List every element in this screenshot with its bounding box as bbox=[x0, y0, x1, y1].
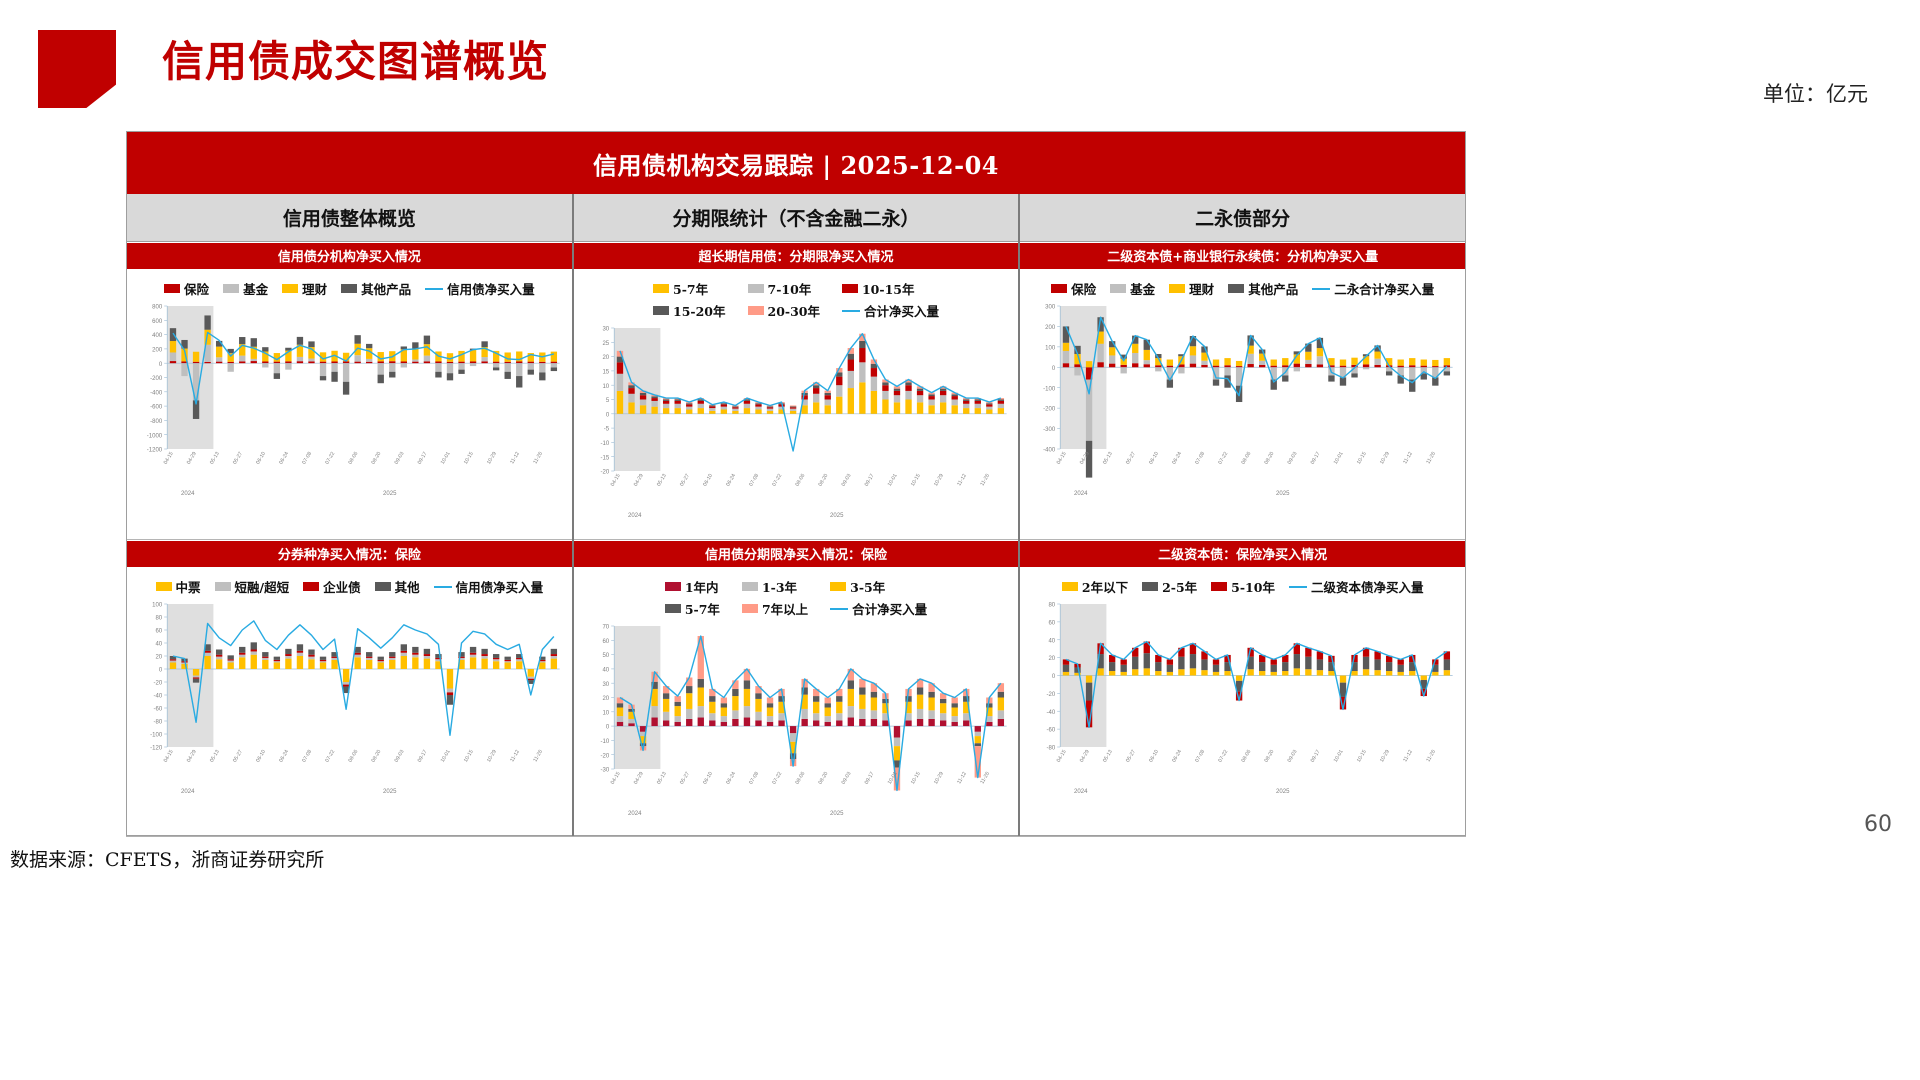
bar-segment bbox=[1213, 659, 1219, 664]
x-tick-label: 08-20 bbox=[371, 451, 383, 466]
year-label: 2024 bbox=[1074, 491, 1088, 497]
bar-segment bbox=[389, 657, 395, 658]
bar-segment bbox=[1375, 670, 1381, 675]
chart-area-2[interactable]: 保险基金理财其他产品二永合计净买入量 3002001000-100-200-30… bbox=[1020, 269, 1465, 539]
bar-segment bbox=[986, 407, 992, 410]
bar-segment bbox=[389, 361, 395, 363]
chart-svg: 806040200-20-40-60-8004-1504-2905-1305-2… bbox=[1026, 598, 1459, 803]
bar-segment bbox=[493, 363, 499, 367]
chart-plot-3[interactable]: 100806040200-20-40-60-80-100-12004-1504-… bbox=[133, 598, 566, 803]
bar-segment bbox=[893, 726, 899, 737]
column-header-1: 分期限统计（不含金融二永） bbox=[574, 194, 1019, 242]
bar-segment bbox=[997, 408, 1003, 414]
y-tick-label: -40 bbox=[153, 694, 162, 700]
bar-segment bbox=[1132, 344, 1138, 353]
x-tick-label: 06-10 bbox=[255, 749, 267, 764]
bar-segment bbox=[401, 644, 407, 651]
x-tick-label: 05-27 bbox=[1125, 451, 1137, 466]
bar-segment bbox=[1213, 380, 1219, 386]
chart-legend-1: 5-7年7-10年10-15年15-20年20-30年合计净买入量 bbox=[580, 273, 1013, 322]
chart-area-5[interactable]: 2年以下2-5年5-10年二级资本债净买入量 806040200-20-40-6… bbox=[1020, 567, 1465, 837]
chart-svg: 3002001000-100-200-300-40004-1504-2905-1… bbox=[1026, 300, 1459, 505]
bar-segment bbox=[732, 719, 738, 726]
x-tick-label: 07-08 bbox=[748, 473, 760, 488]
bar-segment bbox=[193, 669, 199, 676]
bar-segment bbox=[755, 410, 761, 414]
y-tick-label: 200 bbox=[152, 348, 163, 354]
bar-segment bbox=[1271, 665, 1277, 672]
x-tick-label: 07-22 bbox=[324, 749, 336, 764]
bar-segment bbox=[720, 404, 726, 406]
bar-segment bbox=[767, 698, 773, 704]
bar-segment bbox=[320, 657, 326, 660]
chart-cell-4[interactable]: 信用债分期限净买入情况：保险 1年内1-3年3-5年5-7年7年以上合计净买入量… bbox=[574, 540, 1019, 837]
bar-segment bbox=[859, 687, 865, 694]
bar-segment bbox=[997, 719, 1003, 726]
legend-item: 其他 bbox=[375, 577, 420, 596]
legend-line-swatch bbox=[1289, 586, 1307, 588]
bar-segment bbox=[412, 359, 418, 361]
bar-segment bbox=[720, 703, 726, 707]
bar-segment bbox=[674, 706, 680, 716]
bar-segment bbox=[320, 660, 326, 661]
bar-segment bbox=[262, 657, 268, 658]
x-tick-label: 04-29 bbox=[633, 473, 645, 488]
x-tick-label: 07-08 bbox=[1195, 749, 1207, 764]
bar-segment bbox=[378, 375, 384, 384]
y-tick-label: 80 bbox=[155, 616, 162, 622]
y-tick-label: 0 bbox=[605, 725, 609, 731]
bar-segment bbox=[1144, 668, 1150, 675]
year-label: 2025 bbox=[1276, 789, 1290, 795]
bar-segment bbox=[228, 659, 234, 660]
x-tick-label: 07-08 bbox=[748, 771, 760, 786]
legend-label: 3-5年 bbox=[850, 577, 885, 596]
x-tick-label: 10-29 bbox=[933, 771, 945, 786]
bar-segment bbox=[859, 719, 865, 726]
x-tick-label: 11-12 bbox=[956, 473, 968, 487]
bar-segment bbox=[709, 411, 715, 414]
bar-segment bbox=[882, 699, 888, 703]
legend-color-swatch bbox=[375, 582, 391, 591]
y-tick-label: 80 bbox=[1049, 603, 1056, 609]
legend-item: 短融/超短 bbox=[215, 577, 290, 596]
bar-segment bbox=[674, 696, 680, 702]
chart-svg: 100806040200-20-40-60-80-100-12004-1504-… bbox=[133, 598, 566, 803]
bar-segment bbox=[859, 341, 865, 348]
bar-segment bbox=[870, 391, 876, 414]
chart-cell-0[interactable]: 信用债分机构净买入情况 保险基金理财其他产品信用债净买入量 8006004002… bbox=[127, 242, 572, 540]
legend-item: 企业债 bbox=[303, 577, 361, 596]
bar-segment bbox=[239, 647, 245, 653]
bar-segment bbox=[539, 363, 545, 372]
x-tick-label: 09-03 bbox=[1287, 451, 1299, 466]
bar-segment bbox=[1202, 365, 1208, 367]
bar-segment bbox=[505, 657, 511, 660]
chart-area-3[interactable]: 中票短融/超短企业债其他信用债净买入量 100806040200-20-40-6… bbox=[127, 567, 572, 837]
x-tick-label: 07-22 bbox=[1218, 749, 1230, 764]
bar-segment bbox=[720, 708, 726, 717]
bar-segment bbox=[628, 385, 634, 388]
x-tick-label: 07-22 bbox=[1218, 451, 1230, 466]
bar-segment bbox=[1386, 371, 1392, 375]
x-tick-label: 04-29 bbox=[186, 451, 198, 466]
bar-segment bbox=[940, 713, 946, 720]
legend-line-swatch bbox=[830, 608, 848, 610]
bar-segment bbox=[1409, 365, 1415, 367]
x-tick-label: 08-20 bbox=[1264, 749, 1276, 764]
bar-segment bbox=[963, 720, 969, 726]
x-tick-label: 04-29 bbox=[1079, 749, 1091, 764]
bar-segment bbox=[709, 408, 715, 411]
y-tick-label: 200 bbox=[1045, 325, 1056, 331]
bar-segment bbox=[1063, 672, 1069, 676]
x-tick-label: 09-17 bbox=[863, 473, 875, 488]
panel-banner-text: 信用债机构交易跟踪 | 2025-12-04 bbox=[593, 146, 999, 181]
bar-segment bbox=[870, 710, 876, 719]
bar-segment bbox=[917, 695, 923, 709]
bar-segment bbox=[204, 315, 210, 329]
bar-segment bbox=[1386, 662, 1392, 671]
legend-label: 7-10年 bbox=[768, 279, 812, 298]
bar-segment bbox=[331, 658, 337, 660]
bar-segment bbox=[1236, 361, 1242, 366]
legend-item: 15-20年 bbox=[653, 301, 725, 320]
bar-segment bbox=[824, 698, 830, 704]
legend-line-swatch bbox=[425, 288, 443, 290]
legend-label: 其他 bbox=[395, 577, 420, 596]
y-tick-label: -80 bbox=[153, 720, 162, 726]
bar-segment bbox=[686, 410, 692, 414]
y-tick-label: -1200 bbox=[147, 448, 163, 454]
bar-segment bbox=[1109, 364, 1115, 368]
bar-segment bbox=[366, 660, 372, 669]
x-tick-label: 11-26 bbox=[979, 473, 991, 487]
x-tick-label: 11-12 bbox=[1403, 749, 1415, 763]
bar-segment bbox=[320, 661, 326, 662]
bar-segment bbox=[470, 647, 476, 653]
chart-cell-1[interactable]: 超长期信用债：分期限净买入情况 5-7年7-10年10-15年15-20年20-… bbox=[574, 242, 1019, 540]
bar-segment bbox=[170, 352, 176, 361]
highlight-band bbox=[167, 604, 213, 747]
bar-segment bbox=[917, 719, 923, 726]
y-tick-label: 40 bbox=[602, 668, 609, 674]
bar-segment bbox=[251, 359, 257, 361]
bar-segment bbox=[663, 699, 669, 712]
bar-segment bbox=[1144, 350, 1150, 360]
bar-segment bbox=[170, 663, 176, 670]
bar-segment bbox=[354, 657, 360, 669]
bar-segment bbox=[813, 394, 819, 403]
bar-segment bbox=[1155, 367, 1161, 371]
x-tick-label: 07-08 bbox=[1195, 451, 1207, 466]
bar-segment bbox=[1340, 378, 1346, 386]
bar-segment bbox=[893, 738, 899, 747]
bar-segment bbox=[528, 363, 534, 369]
bar-segment bbox=[616, 374, 622, 391]
x-tick-label: 09-17 bbox=[863, 771, 875, 786]
bar-segment bbox=[732, 710, 738, 719]
y-tick-label: -80 bbox=[1047, 746, 1056, 752]
bar-segment bbox=[1340, 366, 1346, 368]
legend-item: 合计净买入量 bbox=[842, 301, 939, 320]
legend-label: 二级资本债净买入量 bbox=[1311, 577, 1424, 596]
bar-segment bbox=[1109, 671, 1115, 675]
bar-segment bbox=[1259, 361, 1265, 365]
bar-segment bbox=[663, 720, 669, 726]
bar-segment bbox=[813, 720, 819, 726]
bar-segment bbox=[505, 663, 511, 670]
bar-segment bbox=[917, 687, 923, 694]
chart-cell-3[interactable]: 分券种净买入情况：保险 中票短融/超短企业债其他信用债净买入量 10080604… bbox=[127, 540, 572, 837]
x-tick-label: 05-13 bbox=[209, 749, 221, 764]
bar-segment bbox=[239, 337, 245, 344]
bar-segment bbox=[974, 400, 980, 401]
bar-segment bbox=[951, 396, 957, 399]
bar-segment bbox=[1363, 367, 1369, 369]
bar-segment bbox=[767, 708, 773, 717]
bar-segment bbox=[516, 661, 522, 669]
bar-segment bbox=[516, 361, 522, 363]
bar-segment bbox=[1063, 363, 1069, 367]
y-tick-label: -200 bbox=[1043, 407, 1056, 413]
bar-segment bbox=[1432, 360, 1438, 366]
bar-segment bbox=[193, 677, 199, 678]
chart-plot-5[interactable]: 806040200-20-40-60-8004-1504-2905-1305-2… bbox=[1026, 598, 1459, 803]
bar-segment bbox=[181, 363, 187, 376]
bar-segment bbox=[389, 372, 395, 378]
bar-segment bbox=[320, 376, 326, 380]
bar-segment bbox=[458, 351, 464, 362]
chart-plot-0[interactable]: 8006004002000-200-400-600-800-1000-12000… bbox=[133, 300, 566, 505]
year-label: 2024 bbox=[181, 491, 195, 497]
bar-segment bbox=[686, 407, 692, 410]
x-tick-label: 04-15 bbox=[1056, 451, 1068, 466]
x-tick-label: 09-17 bbox=[1310, 749, 1322, 764]
bar-segment bbox=[239, 653, 245, 655]
bar-segment bbox=[424, 344, 430, 355]
legend-label: 5-7年 bbox=[673, 279, 708, 298]
bar-segment bbox=[539, 663, 545, 670]
x-tick-label: 08-06 bbox=[348, 749, 360, 764]
bar-segment bbox=[239, 657, 245, 669]
legend-color-swatch bbox=[1110, 284, 1126, 293]
bar-segment bbox=[1317, 348, 1323, 356]
bar-segment bbox=[481, 361, 487, 363]
chart-area-1[interactable]: 5-7年7-10年10-15年15-20年20-30年合计净买入量 302520… bbox=[574, 269, 1019, 539]
y-tick-label: 15 bbox=[602, 370, 609, 376]
x-tick-label: 08-20 bbox=[371, 749, 383, 764]
legend-item: 保险 bbox=[164, 279, 209, 298]
chart-plot-4[interactable]: 706050403020100-10-20-3004-1504-2905-130… bbox=[580, 620, 1013, 825]
bar-segment bbox=[551, 659, 557, 669]
bar-segment bbox=[824, 708, 830, 717]
y-tick-label: 30 bbox=[602, 327, 609, 333]
chart-area-0[interactable]: 保险基金理财其他产品信用债净买入量 8006004002000-200-400-… bbox=[127, 269, 572, 539]
legend-color-swatch bbox=[1169, 284, 1185, 293]
legend-item: 7年以上 bbox=[742, 599, 808, 618]
bar-segment bbox=[551, 649, 557, 654]
bar-segment bbox=[847, 689, 853, 706]
bar-segment bbox=[447, 692, 453, 695]
source-note: 数据来源：CFETS，浙商证券研究所 bbox=[10, 845, 324, 872]
bar-segment bbox=[274, 660, 280, 661]
x-tick-label: 08-20 bbox=[817, 771, 829, 786]
bar-segment bbox=[893, 746, 899, 760]
bar-segment bbox=[1225, 671, 1231, 675]
x-tick-label: 10-01 bbox=[887, 473, 899, 488]
legend-item: 理财 bbox=[282, 279, 327, 298]
bar-segment bbox=[928, 394, 934, 396]
bar-segment bbox=[847, 388, 853, 414]
x-tick-label: 08-06 bbox=[794, 473, 806, 488]
bar-segment bbox=[651, 407, 657, 414]
bar-segment bbox=[905, 382, 911, 385]
bar-segment bbox=[836, 713, 842, 720]
bar-segment bbox=[412, 647, 418, 653]
bar-segment bbox=[1225, 367, 1231, 375]
x-tick-label: 08-20 bbox=[817, 473, 829, 488]
bar-segment bbox=[859, 709, 865, 719]
x-tick-label: 09-03 bbox=[394, 749, 406, 764]
bar-segment bbox=[1063, 665, 1069, 672]
legend-color-swatch bbox=[1051, 284, 1067, 293]
x-tick-label: 11-12 bbox=[509, 451, 521, 465]
bar-segment bbox=[262, 652, 268, 657]
bar-segment bbox=[697, 706, 703, 717]
bar-segment bbox=[424, 659, 430, 669]
bar-segment bbox=[551, 367, 557, 371]
bar-segment bbox=[1259, 671, 1265, 675]
bar-segment bbox=[755, 693, 761, 699]
bar-segment bbox=[743, 404, 749, 408]
bar-segment bbox=[528, 679, 534, 680]
bar-segment bbox=[720, 698, 726, 704]
bar-segment bbox=[354, 655, 360, 658]
bar-segment bbox=[997, 683, 1003, 692]
bar-segment bbox=[893, 391, 899, 395]
bar-segment bbox=[1398, 366, 1404, 368]
y-tick-label: 50 bbox=[602, 653, 609, 659]
bar-segment bbox=[628, 388, 634, 394]
bar-segment bbox=[1167, 380, 1173, 388]
bar-segment bbox=[470, 657, 476, 669]
bar-segment bbox=[228, 661, 234, 663]
bar-segment bbox=[674, 401, 680, 404]
bar-segment bbox=[1236, 676, 1242, 681]
bar-segment bbox=[262, 660, 268, 669]
y-tick-label: 70 bbox=[602, 625, 609, 631]
bar-segment bbox=[790, 406, 796, 407]
x-tick-label: 05-27 bbox=[679, 473, 691, 488]
y-tick-label: -20 bbox=[600, 753, 609, 759]
legend-line-swatch bbox=[1312, 288, 1330, 290]
bar-segment bbox=[216, 657, 222, 660]
y-tick-label: 400 bbox=[152, 333, 163, 339]
bar-segment bbox=[297, 337, 303, 345]
bar-segment bbox=[493, 658, 499, 659]
bar-segment bbox=[1306, 352, 1312, 360]
bar-segment bbox=[528, 669, 534, 677]
bar-segment bbox=[824, 393, 830, 395]
legend-label: 基金 bbox=[1130, 279, 1155, 298]
bar-segment bbox=[401, 361, 407, 363]
legend-color-swatch bbox=[1228, 284, 1244, 293]
bar-segment bbox=[986, 703, 992, 707]
legend-label: 信用债净买入量 bbox=[456, 577, 544, 596]
legend-item: 5-10年 bbox=[1211, 577, 1275, 596]
x-tick-label: 08-06 bbox=[794, 771, 806, 786]
bar-segment bbox=[1075, 367, 1081, 375]
bar-segment bbox=[720, 410, 726, 414]
bar-segment bbox=[870, 692, 876, 698]
bar-segment bbox=[697, 718, 703, 727]
bar-segment bbox=[285, 649, 291, 654]
bar-segment bbox=[1306, 360, 1312, 364]
bar-segment bbox=[1398, 360, 1404, 366]
bar-segment bbox=[813, 702, 819, 713]
chart-area-4[interactable]: 1年内1-3年3-5年5-7年7年以上合计净买入量 70605040302010… bbox=[574, 567, 1019, 837]
chart-plot-1[interactable]: 302520151050-5-10-15-2004-1504-2905-1305… bbox=[580, 322, 1013, 527]
bar-segment bbox=[882, 382, 888, 385]
year-label: 2025 bbox=[383, 789, 397, 795]
bar-segment bbox=[378, 660, 384, 661]
bar-segment bbox=[651, 396, 657, 398]
bar-segment bbox=[204, 362, 210, 363]
bar-segment bbox=[470, 361, 476, 363]
chart-plot-2[interactable]: 3002001000-100-200-300-40004-1504-2905-1… bbox=[1026, 300, 1459, 505]
chart-cell-2[interactable]: 二级资本债+商业银行永续债：分机构净买入量 保险基金理财其他产品二永合计净买入量… bbox=[1020, 242, 1465, 540]
page-title: 信用债成交图谱概览 bbox=[162, 28, 549, 89]
bar-segment bbox=[847, 718, 853, 727]
chart-legend-4: 1年内1-3年3-5年5-7年7年以上合计净买入量 bbox=[580, 571, 1013, 620]
bar-segment bbox=[1294, 364, 1300, 368]
x-tick-label: 09-03 bbox=[840, 473, 852, 488]
bar-segment bbox=[412, 362, 418, 364]
bar-segment bbox=[951, 722, 957, 726]
bar-segment bbox=[997, 400, 1003, 401]
bar-segment bbox=[640, 405, 646, 414]
bar-segment bbox=[674, 702, 680, 706]
bar-segment bbox=[905, 720, 911, 726]
bar-segment bbox=[285, 363, 291, 369]
y-tick-label: 800 bbox=[152, 305, 163, 311]
chart-legend-3: 中票短融/超短企业债其他信用债净买入量 bbox=[133, 571, 566, 598]
bar-segment bbox=[170, 341, 176, 352]
bar-segment bbox=[1432, 366, 1438, 367]
bar-segment bbox=[424, 649, 430, 654]
bar-segment bbox=[539, 362, 545, 363]
column-credit-overview: 信用债整体概览 信用债分机构净买入情况 保险基金理财其他产品信用债净买入量 80… bbox=[127, 194, 574, 837]
y-tick-label: -20 bbox=[153, 681, 162, 687]
x-tick-label: 10-15 bbox=[910, 473, 922, 488]
bar-segment bbox=[1132, 363, 1138, 367]
legend-item: 2-5年 bbox=[1142, 577, 1197, 596]
bar-segment bbox=[1271, 360, 1277, 366]
chart-svg: 8006004002000-200-400-600-800-1000-12000… bbox=[133, 300, 566, 505]
bar-segment bbox=[481, 357, 487, 361]
bar-segment bbox=[1444, 358, 1450, 365]
legend-color-swatch bbox=[303, 582, 319, 591]
x-tick-label: 09-03 bbox=[394, 451, 406, 466]
chart-cell-5[interactable]: 二级资本债：保险净买入情况 2年以下2-5年5-10年二级资本债净买入量 806… bbox=[1020, 540, 1465, 837]
bar-segment bbox=[847, 359, 853, 370]
bar-segment bbox=[928, 405, 934, 414]
page-number: 60 bbox=[1864, 812, 1892, 837]
bar-segment bbox=[320, 663, 326, 670]
x-tick-label: 08-20 bbox=[1264, 451, 1276, 466]
bar-segment bbox=[285, 654, 291, 656]
